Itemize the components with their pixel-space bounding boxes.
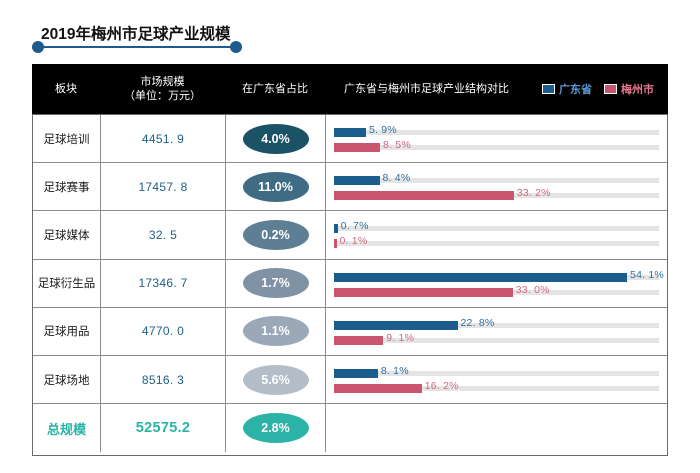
bar-fill-meizhou [334,288,513,297]
bar-row-guangdong: 22. 8% [334,321,659,330]
bar-fill-meizhou [334,143,380,152]
bar-row-guangdong: 8. 4% [334,176,659,185]
table-header-row: 板块 市场规模 （单位：万元） 在广东省占比 广东省与梅州市足球产业结构对比 广… [32,64,668,114]
cell-structure-bars [326,404,667,452]
market-scale-value: 52575.2 [136,420,191,436]
title-dot-right-icon [230,41,242,53]
sector-label: 总规模 [47,419,86,438]
cell-structure-bars: 22. 8%9. 1% [326,308,667,355]
table-row-total: 总规模52575.22.8% [33,404,667,452]
sector-label: 足球场地 [44,372,90,388]
legend-item-guangdong[interactable]: 广东省 [542,81,592,97]
legend-label: 广东省 [559,81,592,97]
bar-row-meizhou: 0. 1% [334,239,659,248]
legend-swatch-icon [604,84,617,94]
sector-label: 足球用品 [44,323,90,339]
bar-row-meizhou: 16. 2% [334,384,659,393]
market-scale-value: 17346. 7 [138,276,187,290]
bar-row-guangdong: 0. 7% [334,224,659,233]
legend-swatch-icon [542,84,555,94]
bar-fill-guangdong [334,321,458,330]
bar-fill-meizhou [334,191,514,200]
cell-share: 0.2% [226,211,326,258]
bar-value-label-meizhou: 8. 5% [383,139,411,151]
page-title: 2019年梅州市足球产业规模 [41,22,230,44]
cell-market-scale: 8516. 3 [101,356,226,403]
share-badge: 0.2% [243,220,309,250]
bar-value-label-meizhou: 16. 2% [425,380,459,392]
cell-share: 1.7% [226,260,326,307]
cell-market-scale: 17346. 7 [101,260,226,307]
cell-share: 2.8% [226,404,326,452]
share-badge: 11.0% [243,172,309,202]
cell-structure-bars: 54. 1%33. 0% [326,260,667,307]
table-row: 足球培训4451. 94.0%5. 9%8. 5% [33,115,667,163]
bar-row-meizhou: 33. 2% [334,191,659,200]
cell-structure-bars: 8. 4%33. 2% [326,163,667,210]
sector-label: 足球培训 [44,131,90,147]
cell-sector: 足球衍生品 [33,260,101,307]
column-header-sector: 板块 [32,64,100,114]
sector-label: 足球媒体 [44,227,90,243]
bar-chart-cell: 54. 1%33. 0% [334,260,659,307]
legend-item-meizhou[interactable]: 梅州市 [604,81,654,97]
bar-value-label-guangdong: 5. 9% [369,124,397,136]
share-badge: 1.1% [243,316,309,346]
share-badge: 2.8% [243,413,309,443]
cell-structure-bars: 5. 9%8. 5% [326,115,667,162]
cell-market-scale: 17457. 8 [101,163,226,210]
bar-chart-cell: 8. 4%33. 2% [334,163,659,210]
bar-row-meizhou: 8. 5% [334,143,659,152]
bar-row-meizhou: 9. 1% [334,336,659,345]
table-row: 足球衍生品17346. 71.7%54. 1%33. 0% [33,260,667,308]
market-scale-value: 32. 5 [149,228,177,242]
market-scale-value: 4451. 9 [142,132,184,146]
column-header-structure-compare: 广东省与梅州市足球产业结构对比 [325,64,528,114]
cell-share: 5.6% [226,356,326,403]
market-scale-value: 17457. 8 [138,180,187,194]
bar-value-label-guangdong: 54. 1% [630,269,664,281]
cell-market-scale: 52575.2 [101,404,226,452]
table-row: 足球赛事17457. 811.0%8. 4%33. 2% [33,163,667,211]
column-header-share: 在广东省占比 [225,64,325,114]
bar-fill-guangdong [334,273,627,282]
bar-value-label-meizhou: 33. 0% [516,284,550,296]
bar-row-guangdong: 54. 1% [334,273,659,282]
bar-fill-meizhou [334,384,422,393]
sector-label: 足球衍生品 [38,275,96,291]
market-scale-value: 4770. 0 [142,324,184,338]
title-underline [38,46,236,48]
share-badge: 4.0% [243,124,309,154]
bar-row-guangdong: 5. 9% [334,128,659,137]
cell-sector: 足球场地 [33,356,101,403]
table-row: 足球用品4770. 01.1%22. 8%9. 1% [33,308,667,356]
cell-structure-bars: 0. 7%0. 1% [326,211,667,258]
cell-structure-bars: 8. 1%16. 2% [326,356,667,403]
cell-share: 1.1% [226,308,326,355]
bar-chart-cell: 22. 8%9. 1% [334,308,659,355]
bar-value-label-meizhou: 9. 1% [386,332,414,344]
bar-fill-guangdong [334,224,338,233]
cell-share: 11.0% [226,163,326,210]
bar-row-meizhou: 33. 0% [334,288,659,297]
bar-chart-cell: 0. 7%0. 1% [334,211,659,258]
bar-chart-cell: 8. 1%16. 2% [334,356,659,403]
cell-market-scale: 4451. 9 [101,115,226,162]
table-row: 足球媒体32. 50.2%0. 7%0. 1% [33,211,667,259]
bar-value-label-guangdong: 8. 1% [381,365,409,377]
cell-sector: 足球用品 [33,308,101,355]
bar-value-label-guangdong: 22. 8% [461,317,495,329]
bar-value-label-guangdong: 8. 4% [383,172,411,184]
bar-value-label-meizhou: 33. 2% [517,187,551,199]
cell-share: 4.0% [226,115,326,162]
bar-track [334,226,659,231]
cell-market-scale: 4770. 0 [101,308,226,355]
share-badge: 5.6% [243,365,309,395]
bar-fill-meizhou [334,336,383,345]
cell-sector: 足球媒体 [33,211,101,258]
table-row: 足球场地8516. 35.6%8. 1%16. 2% [33,356,667,404]
cell-sector: 足球培训 [33,115,101,162]
table-body: 足球培训4451. 94.0%5. 9%8. 5%足球赛事17457. 811.… [32,114,668,456]
bar-chart-cell: 5. 9%8. 5% [334,115,659,162]
market-scale-value: 8516. 3 [142,373,184,387]
column-header-market-scale-line2: （单位：万元） [124,89,201,103]
column-header-market-scale-line1: 市场规模 [141,75,185,89]
bar-value-label-meizhou: 0. 1% [340,235,368,247]
cell-sector: 总规模 [33,404,101,452]
bar-fill-meizhou [334,239,337,248]
bar-fill-guangdong [334,369,378,378]
column-header-market-scale: 市场规模 （单位：万元） [100,64,225,114]
bar-track [334,241,659,246]
bar-value-label-guangdong: 0. 7% [341,220,369,232]
title-dot-left-icon [32,41,44,53]
sector-label: 足球赛事 [44,179,90,195]
page-title-block: 2019年梅州市足球产业规模 [32,22,247,62]
chart-legend: 广东省梅州市 [528,64,668,114]
data-table: 板块 市场规模 （单位：万元） 在广东省占比 广东省与梅州市足球产业结构对比 广… [32,64,668,456]
bar-fill-guangdong [334,128,366,137]
cell-market-scale: 32. 5 [101,211,226,258]
share-badge: 1.7% [243,268,309,298]
bar-fill-guangdong [334,176,380,185]
cell-sector: 足球赛事 [33,163,101,210]
legend-label: 梅州市 [621,81,654,97]
bar-row-guangdong: 8. 1% [334,369,659,378]
